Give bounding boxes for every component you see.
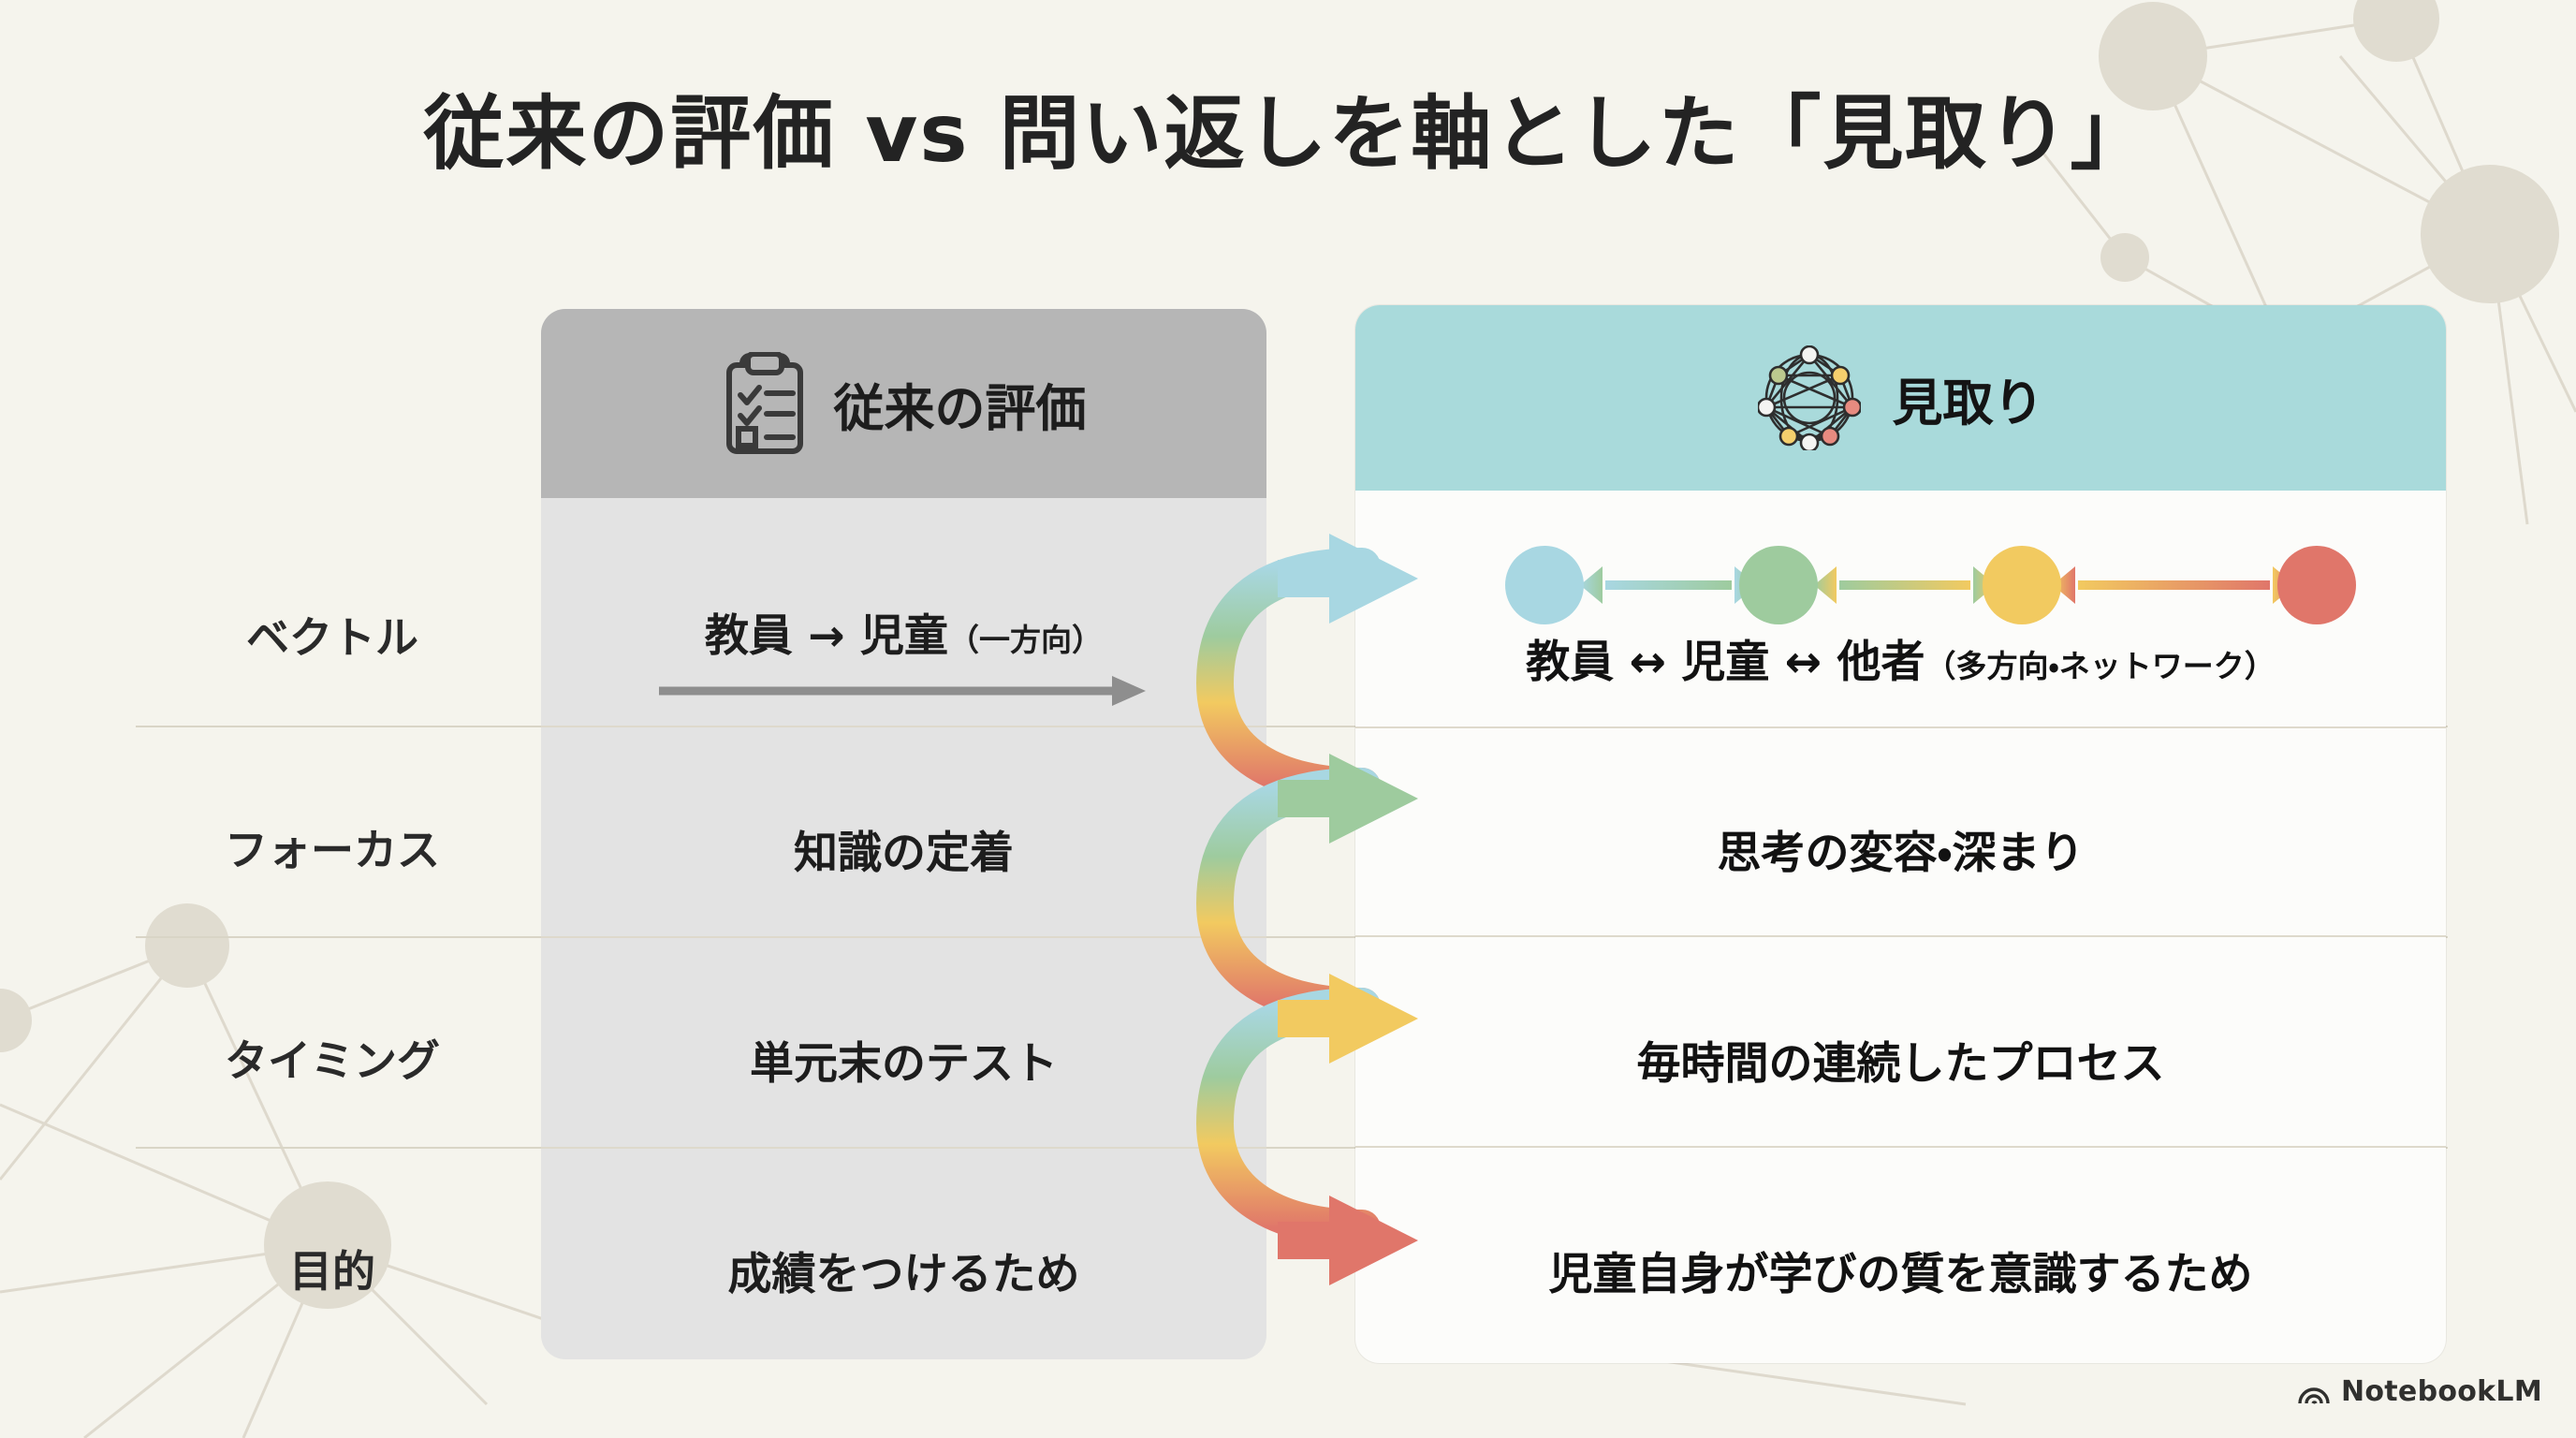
cell-right-purpose: 児童自身が学びの質を意識するため — [1355, 1238, 2446, 1302]
node-other-1 — [1983, 546, 2061, 624]
panel-right-row-divider — [1355, 726, 2446, 728]
row-label-focus: フォーカス — [136, 816, 529, 878]
cell-left-vector-text: 教員 → 児童 — [705, 610, 948, 662]
node-other-2 — [2277, 546, 2356, 624]
node-teacher — [1505, 546, 1584, 624]
row-label-vector: ベクトル — [136, 604, 529, 666]
cell-right-timing: 毎時間の連続したプロセス — [1355, 1027, 2446, 1092]
cell-right-vector-note: （多方向・ネットワーク） — [1925, 648, 2275, 684]
notebooklm-label: NotebookLM — [2341, 1375, 2542, 1408]
cell-left-vector-note: （一方向） — [948, 622, 1103, 658]
cell-right-focus: 思考の変容・深まり — [1355, 816, 2446, 881]
panel-right-title: 見取り — [1893, 361, 2044, 435]
row-label-timing: タイミング — [136, 1027, 529, 1089]
notebooklm-watermark: NotebookLM — [2298, 1375, 2542, 1408]
one-way-arrow-icon — [655, 672, 1149, 710]
page-title: 従来の評価 vs 問い返しを軸とした「見取り」 — [0, 90, 2576, 179]
panel-left-row-divider — [541, 726, 1266, 727]
cell-right-vector: 教員 ↔ 児童 ↔ 他者（多方向・ネットワーク） — [1355, 625, 2446, 690]
slide-canvas: 従来の評価 vs 問い返しを軸とした「見取り」 ベクトル フォーカス タイミング… — [0, 0, 2576, 1438]
clipboard-checklist-icon — [722, 352, 808, 455]
cell-left-focus: 知識の定着 — [541, 816, 1266, 881]
cell-left-timing: 単元末のテスト — [541, 1027, 1266, 1092]
panel-right-header: 見取り — [1355, 305, 2446, 491]
node-network-diagram — [1460, 543, 2359, 627]
panel-right-row-divider — [1355, 935, 2446, 937]
panel-left-row-divider — [541, 1147, 1266, 1149]
cell-right-vector-text: 教員 ↔ 児童 ↔ 他者 — [1526, 637, 1925, 688]
panel-right-row-divider — [1355, 1146, 2446, 1148]
panel-left-row-divider — [541, 936, 1266, 938]
panel-left-title: 従来の評価 — [834, 367, 1087, 441]
cell-left-vector: 教員 → 児童（一方向） — [541, 599, 1266, 664]
panel-left-header: 従来の評価 — [541, 309, 1266, 498]
node-student — [1739, 546, 1818, 624]
row-label-purpose: 目的 — [136, 1238, 529, 1299]
network-graph-icon — [1758, 345, 1861, 450]
notebooklm-logo-icon — [2298, 1378, 2330, 1406]
cell-left-purpose: 成績をつけるため — [541, 1238, 1266, 1302]
